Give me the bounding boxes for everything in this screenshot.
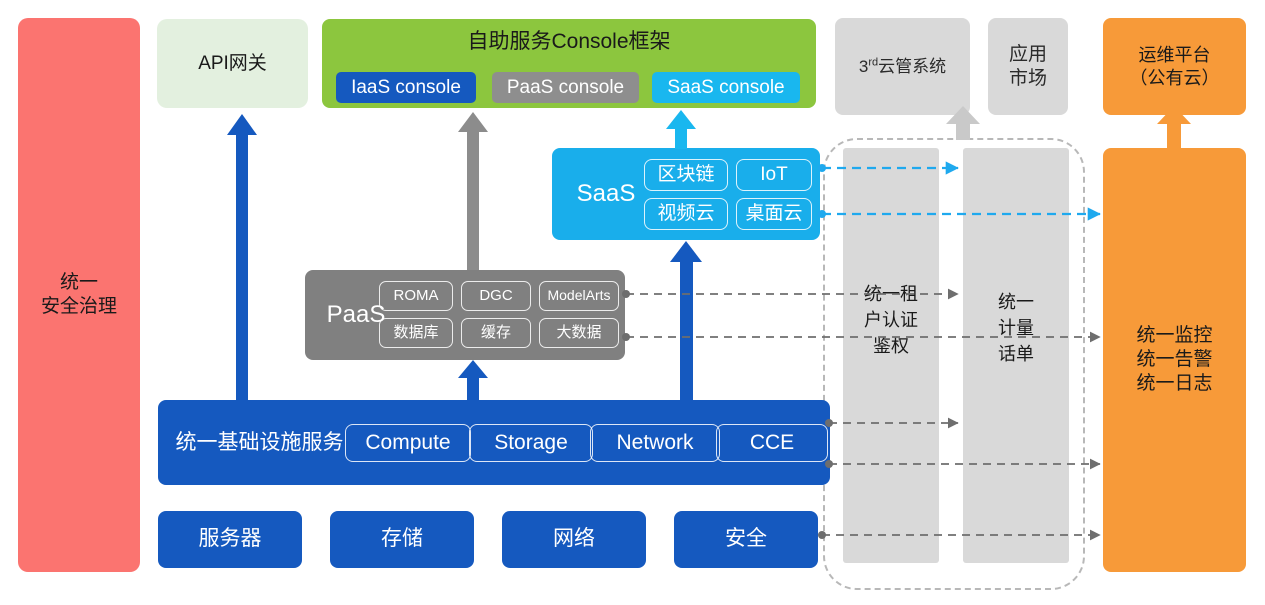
- ops-platform-box[interactable]: 运维平台 （公有云）: [1103, 18, 1246, 115]
- saas-item-desktop-cloud[interactable]: 桌面云: [736, 198, 812, 230]
- chip-paas-console[interactable]: PaaS console: [492, 72, 639, 103]
- app-market-line-1: 应用: [1009, 43, 1047, 67]
- arrow-infra-to-saas: [670, 241, 702, 400]
- third-party-cloud-box[interactable]: 3rd云管系统: [835, 18, 970, 115]
- paas-item-database-label: 数据库: [393, 324, 438, 343]
- ops-panel-line-3: 统一日志: [1136, 372, 1212, 396]
- ops-side-panel: 统一监控 统一告警 统一日志: [1103, 148, 1246, 572]
- hardware-security-label: 安全: [725, 526, 767, 552]
- api-gateway-box[interactable]: API网关: [157, 19, 308, 108]
- paas-item-roma[interactable]: ROMA: [379, 281, 453, 311]
- console-frame-title: 自助服务Console框架: [322, 29, 816, 55]
- hardware-network-box[interactable]: 网络: [502, 511, 646, 568]
- ops-platform-line-1: 运维平台: [1139, 44, 1211, 67]
- chip-saas-console[interactable]: SaaS console: [652, 72, 800, 103]
- hardware-server-label: 服务器: [199, 526, 262, 552]
- infra-item-network-label: Network: [616, 430, 693, 456]
- saas-item-video-cloud-label: 视频云: [657, 202, 714, 226]
- infra-item-compute-label: Compute: [365, 430, 450, 456]
- infrastructure-bar: 统一基础设施服务 Compute Storage Network CCE: [158, 400, 830, 485]
- chip-paas-console-label: PaaS console: [507, 76, 624, 100]
- api-gateway-label: API网关: [198, 52, 267, 76]
- infra-item-network[interactable]: Network: [590, 424, 720, 462]
- infra-item-storage[interactable]: Storage: [469, 424, 593, 462]
- paas-item-database[interactable]: 数据库: [379, 318, 453, 348]
- hardware-server-box[interactable]: 服务器: [158, 511, 302, 568]
- console-frame-box: 自助服务Console框架 IaaS console PaaS console …: [322, 19, 816, 108]
- saas-item-desktop-cloud-label: 桌面云: [745, 202, 802, 226]
- arrow-infra-to-api-gateway: [227, 114, 257, 400]
- paas-item-dgc-label: DGC: [479, 287, 512, 306]
- unified-security-line-1: 统一: [60, 271, 98, 295]
- infra-item-storage-label: Storage: [494, 430, 568, 456]
- app-market-box[interactable]: 应用 市场: [988, 18, 1068, 115]
- paas-item-bigdata-label: 大数据: [556, 324, 601, 343]
- paas-item-cache[interactable]: 缓存: [461, 318, 531, 348]
- saas-item-iot[interactable]: IoT: [736, 159, 812, 191]
- tenant-auth-label: 统一租 户认证 鉴权: [843, 280, 939, 358]
- saas-item-blockchain-label: 区块链: [657, 163, 714, 187]
- paas-item-dgc[interactable]: DGC: [461, 281, 531, 311]
- infra-item-cce[interactable]: CCE: [716, 424, 828, 462]
- infrastructure-title: 统一基础设施服务: [172, 424, 347, 462]
- ops-panel-line-1: 统一监控: [1136, 324, 1212, 348]
- hardware-storage-label: 存储: [381, 526, 423, 552]
- chip-iaas-console[interactable]: IaaS console: [336, 72, 476, 103]
- third-party-cloud-label: 3rd云管系统: [859, 56, 946, 77]
- arrow-infra-to-paas: [458, 360, 488, 400]
- chip-iaas-console-label: IaaS console: [351, 76, 461, 100]
- unified-security-line-2: 安全治理: [41, 295, 117, 319]
- hardware-security-box[interactable]: 安全: [674, 511, 818, 568]
- saas-item-video-cloud[interactable]: 视频云: [644, 198, 728, 230]
- paas-item-cache-label: 缓存: [481, 324, 511, 343]
- arrow-paas-to-console: [458, 112, 488, 270]
- paas-box: PaaS ROMA DGC ModelArts 数据库 缓存 大数据: [305, 270, 625, 360]
- ops-platform-line-2: （公有云）: [1130, 67, 1220, 90]
- arrow-saas-to-console: [666, 110, 696, 149]
- chip-saas-console-label: SaaS console: [667, 76, 784, 100]
- hardware-network-label: 网络: [553, 526, 595, 552]
- hardware-storage-box[interactable]: 存储: [330, 511, 474, 568]
- paas-item-bigdata[interactable]: 大数据: [539, 318, 619, 348]
- architecture-diagram: 统一 安全治理 API网关 自助服务Console框架 IaaS console…: [0, 0, 1265, 605]
- metering-label: 统一 计量 话单: [963, 288, 1069, 366]
- paas-item-modelarts-label: ModelArts: [547, 287, 610, 305]
- unified-security-panel: 统一 安全治理: [18, 18, 140, 572]
- app-market-line-2: 市场: [1009, 67, 1047, 91]
- infra-item-cce-label: CCE: [750, 430, 794, 456]
- saas-title: SaaS: [566, 174, 646, 214]
- ops-panel-line-2: 统一告警: [1136, 348, 1212, 372]
- paas-item-roma-label: ROMA: [394, 287, 439, 306]
- paas-item-modelarts[interactable]: ModelArts: [539, 281, 619, 311]
- saas-box: SaaS 区块链 IoT 视频云 桌面云: [552, 148, 820, 240]
- saas-item-blockchain[interactable]: 区块链: [644, 159, 728, 191]
- infra-item-compute[interactable]: Compute: [345, 424, 471, 462]
- saas-item-iot-label: IoT: [760, 163, 787, 187]
